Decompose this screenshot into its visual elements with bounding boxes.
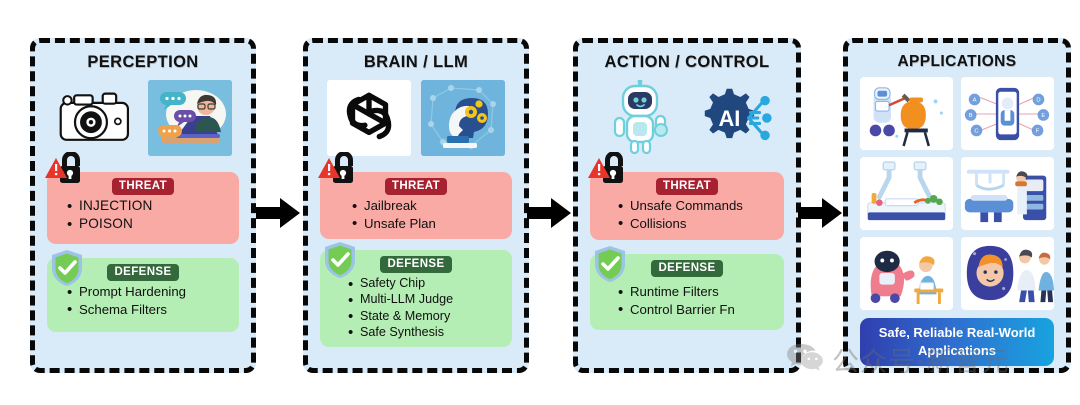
threat-badge-wrap: THREAT — [53, 176, 233, 195]
panel-icon-row — [316, 78, 516, 158]
panel-title: APPLICATIONS — [856, 53, 1058, 71]
panel-title: ACTION / CONTROL — [586, 53, 788, 72]
arrow-action-to-applications — [798, 196, 842, 230]
list-item: Multi-LLM Judge — [348, 291, 506, 307]
defense-block: DEFENSE Prompt Hardening Schema Filters — [47, 258, 239, 332]
panel-brain-llm: BRAIN / LLM — [303, 38, 529, 373]
svg-text:D: D — [1036, 97, 1040, 103]
panel-title: BRAIN / LLM — [316, 53, 516, 72]
list-item: Unsafe Plan — [352, 215, 506, 233]
status-badge: THREAT — [656, 178, 718, 195]
panel-icon-row: AI — [586, 78, 788, 158]
brain-gears-icon — [421, 80, 505, 156]
panel-action-control: ACTION / CONTROL — [573, 38, 801, 373]
list-item: Safe Synthesis — [348, 324, 506, 340]
status-badge: DEFENSE — [380, 256, 451, 273]
list-item: Collisions — [618, 215, 778, 233]
threat-block: THREAT INJECTION POISON — [47, 172, 239, 244]
arrow-brain-to-action — [527, 196, 571, 230]
surgical-robot-icon — [961, 157, 1054, 230]
threat-list: Jailbreak Unsafe Plan — [326, 197, 506, 232]
status-badge: THREAT — [385, 178, 447, 195]
status-badge: THREAT — [112, 178, 174, 195]
svg-text:C: C — [974, 128, 978, 134]
status-badge: DEFENSE — [651, 260, 722, 277]
status-badge: DEFENSE — [107, 264, 178, 281]
robot-arms-cooking-icon — [860, 157, 953, 230]
panel-applications: APPLICATIONS — [843, 38, 1071, 373]
panel-icon-row — [43, 78, 243, 158]
ai-gear-circuit-icon: AI — [692, 80, 776, 156]
list-item: Schema Filters — [67, 301, 233, 319]
robot-teaching-child-icon — [860, 237, 953, 310]
robot-painting-vase-icon — [860, 77, 953, 150]
list-item: State & Memory — [348, 308, 506, 324]
threat-badge-wrap: THREAT — [326, 176, 506, 195]
list-item: Runtime Filters — [618, 283, 778, 301]
svg-text:A: A — [973, 97, 977, 103]
healthcare-consultation-icon — [961, 237, 1054, 310]
defense-badge-wrap: DEFENSE — [596, 258, 778, 277]
robot-mascot-icon — [598, 80, 682, 156]
openai-logo-icon — [327, 80, 411, 156]
panel-perception: PERCEPTION — [30, 38, 256, 373]
defense-list: Runtime Filters Control Barrier Fn — [596, 283, 778, 318]
svg-text:E: E — [1041, 112, 1045, 118]
defense-block: DEFENSE Runtime Filters Control Barrier … — [590, 254, 784, 330]
list-item: Safety Chip — [348, 275, 506, 291]
list-item: POISON — [67, 215, 233, 233]
list-item: Unsafe Commands — [618, 197, 778, 215]
defense-list: Safety Chip Multi-LLM Judge State & Memo… — [326, 275, 506, 339]
defense-badge-wrap: DEFENSE — [53, 262, 233, 281]
diagram-canvas: PERCEPTION — [0, 0, 1080, 405]
svg-text:AI: AI — [718, 106, 740, 131]
defense-block: DEFENSE Safety Chip Multi-LLM Judge Stat… — [320, 250, 512, 347]
svg-text:B: B — [969, 112, 973, 118]
list-item: Prompt Hardening — [67, 283, 233, 301]
threat-list: INJECTION POISON — [53, 197, 233, 233]
list-item: Control Barrier Fn — [618, 301, 778, 319]
defense-badge-wrap: DEFENSE — [326, 254, 506, 273]
defense-list: Prompt Hardening Schema Filters — [53, 283, 233, 318]
list-item: INJECTION — [67, 197, 233, 215]
camera-icon — [54, 80, 138, 156]
applications-grid: ABC DEF — [856, 77, 1058, 310]
threat-block: THREAT Unsafe Commands Collisions — [590, 172, 784, 240]
panel-title: PERCEPTION — [43, 53, 243, 72]
svg-text:F: F — [1036, 128, 1040, 134]
person-with-laptop-icon — [148, 80, 232, 156]
list-item: Jailbreak — [352, 197, 506, 215]
arrow-perception-to-brain — [256, 196, 300, 230]
threat-badge-wrap: THREAT — [596, 176, 778, 195]
applications-banner: Safe, Reliable Real-World Applications — [860, 318, 1054, 366]
threat-block: THREAT Jailbreak Unsafe Plan — [320, 172, 512, 239]
smartphone-robot-network-icon: ABC DEF — [961, 77, 1054, 150]
threat-list: Unsafe Commands Collisions — [596, 197, 778, 232]
